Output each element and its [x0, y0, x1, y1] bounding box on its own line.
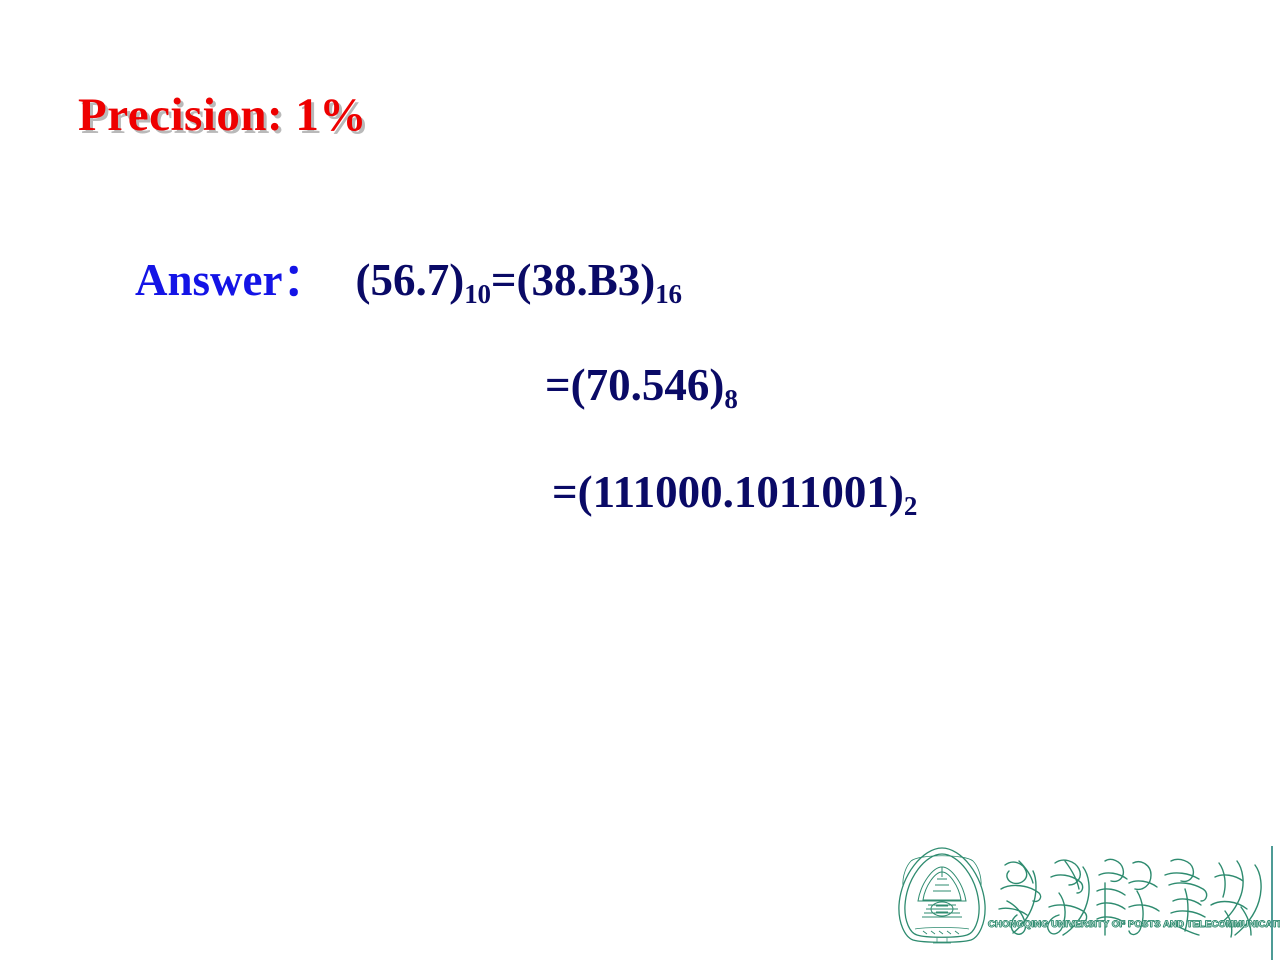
- right-edge-rule: [1271, 846, 1273, 960]
- expr-binary-value: =(111000.1011001): [552, 467, 904, 517]
- university-logo: CHONGQING UNIVERSITY OF POSTS AND TELECO…: [893, 843, 1268, 948]
- expr-binary-base: 2: [904, 491, 917, 521]
- slide-canvas: Precision: 1% Answer：(56.7)10=(38.B3)16 …: [0, 0, 1280, 960]
- cqupt-chinese-wordmark-icon: [993, 849, 1268, 945]
- answer-line-1: Answer：(56.7)10=(38.B3)16: [135, 258, 682, 303]
- expr-hex-base: 16: [655, 279, 682, 309]
- expr-decimal-value: (56.7): [356, 255, 465, 305]
- expr-octal-value: =(70.546): [545, 360, 724, 410]
- logo-caption: CHONGQING UNIVERSITY OF POSTS AND TELECO…: [988, 919, 1268, 930]
- answer-label: Answer: [135, 255, 282, 305]
- answer-line-3: =(111000.1011001)2: [552, 470, 917, 515]
- answer-line-2: =(70.546)8: [545, 363, 738, 408]
- cqupt-shield-emblem-icon: [893, 843, 991, 946]
- expr-decimal-base: 10: [464, 279, 491, 309]
- expr-octal: =(70.546)8: [545, 360, 738, 410]
- expr-octal-base: 8: [724, 384, 737, 414]
- answer-colon: ：: [282, 255, 327, 305]
- expr-binary: =(111000.1011001)2: [552, 467, 917, 517]
- expr-decimal: (56.7)10: [356, 255, 491, 305]
- expr-hex: =(38.B3)16: [491, 255, 682, 305]
- page-title: Precision: 1%: [78, 88, 367, 142]
- expr-hex-value: =(38.B3): [491, 255, 655, 305]
